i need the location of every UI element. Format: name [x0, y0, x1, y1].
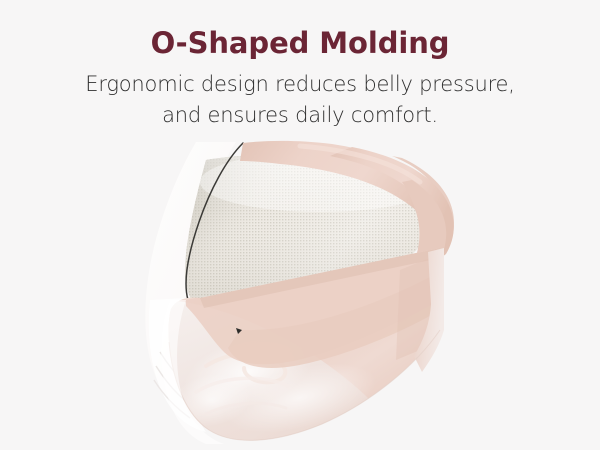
promo-banner: O-Shaped Molding Ergonomic design reduce… [0, 0, 600, 450]
product-illustration [0, 0, 600, 450]
